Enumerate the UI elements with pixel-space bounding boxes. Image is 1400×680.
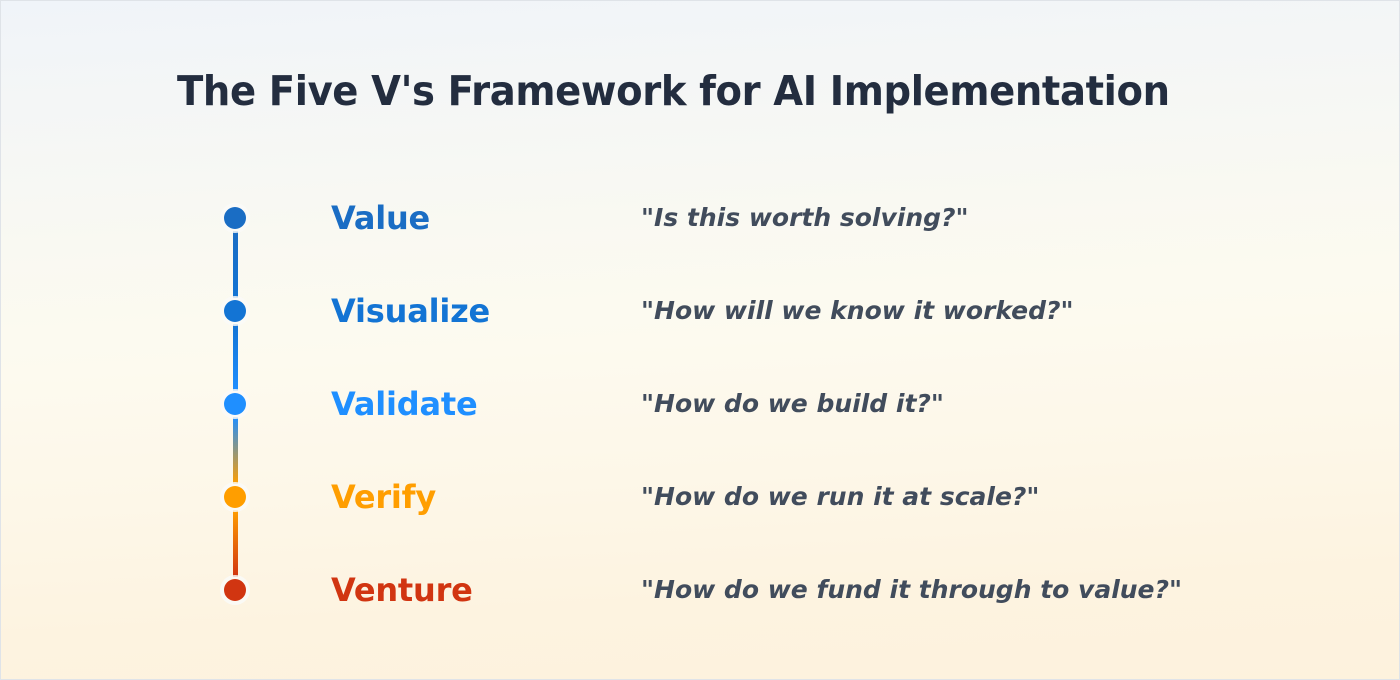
timeline-connector xyxy=(233,510,238,577)
stage-label: Validate xyxy=(331,384,477,424)
stage-marker-dot-icon xyxy=(224,486,246,508)
timeline-connector xyxy=(233,324,238,391)
timeline-connector xyxy=(233,417,238,484)
stage-marker-dot-icon xyxy=(224,207,246,229)
stage-question: "How will we know it worked?" xyxy=(641,294,1074,328)
stage-label: Venture xyxy=(331,570,473,610)
framework-timeline: Value"Is this worth solving?"Visualize"H… xyxy=(1,1,1400,680)
stage-question: "How do we build it?" xyxy=(641,387,944,421)
stage-marker-dot-icon xyxy=(224,300,246,322)
stage-question: "How do we fund it through to value?" xyxy=(641,573,1182,607)
stage-marker-dot-icon xyxy=(224,579,246,601)
stage-label: Value xyxy=(331,198,430,238)
stage-label: Verify xyxy=(331,477,436,517)
stage-label: Visualize xyxy=(331,291,490,331)
infographic-canvas: The Five V's Framework for AI Implementa… xyxy=(0,0,1400,680)
stage-marker-dot-icon xyxy=(224,393,246,415)
stage-question: "How do we run it at scale?" xyxy=(641,480,1039,514)
timeline-connector xyxy=(233,231,238,298)
stage-question: "Is this worth solving?" xyxy=(641,201,969,235)
